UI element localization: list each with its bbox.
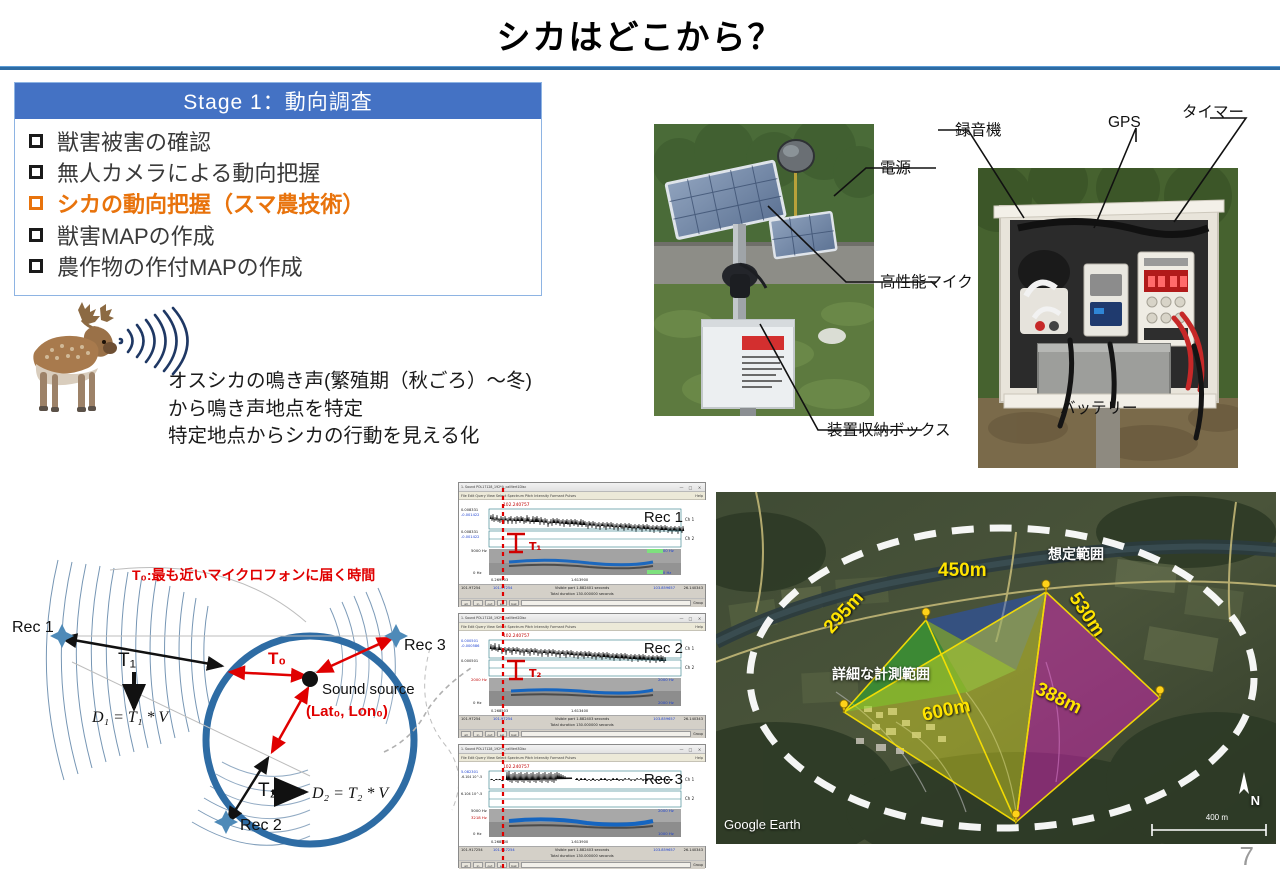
svg-text:1.613400: 1.613400 [571,709,589,713]
stage-box-header: Stage 1：動向調査 [15,83,541,119]
zoom-out-button[interactable]: out [485,731,495,737]
checklist-item[interactable]: 農作物の作付MAPの作成 [29,252,541,283]
deer-caption-line-3: 特定地点からシカの行動を見える化 [168,423,638,451]
praat-footer: 101.97254 101.97254 Visible part 1.88240… [459,715,705,729]
zoom-all-button[interactable]: all [461,862,471,868]
praat-window-rec3[interactable]: 1. Sound POL17128_192*A_callVert3Disc — … [458,744,706,868]
praat-button-row[interactable]: all in out sel bak Group [459,729,705,738]
group-checkbox-label[interactable]: Group [693,732,703,736]
deer-illustration [16,300,124,416]
diagram-title-note: T₀:最も近いマイクロフォンに届く時間 [132,567,375,583]
praat-canvas[interactable]: 102.240757 Ch 1 0.000501 -0.000586 Ch 2 … [459,631,705,715]
svg-text:-0.001422: -0.001422 [461,513,479,517]
praat-total-duration: Total duration 130.000000 seconds [459,592,705,596]
checklist-item-label: 無人カメラによる動向把握 [57,158,320,189]
stage-checklist: 獣害被害の確認 無人カメラによる動向把握 シカの動向把握（スマ農技術） 獣害MA… [15,119,541,283]
svg-text:Ch 2: Ch 2 [685,665,695,670]
checklist-item[interactable]: 獣害被害の確認 [29,127,541,158]
page-number: 7 [1240,841,1254,872]
diagram-t2-label: T₂ [258,780,277,801]
svg-text:0.269503: 0.269503 [491,578,508,582]
svg-text:2000 Hz: 2000 Hz [658,700,674,705]
minimize-icon[interactable]: — [678,485,685,490]
praat-total-right: 26.140343 [684,717,703,721]
group-checkbox-label[interactable]: Group [693,601,703,605]
praat-button-row[interactable]: all in out sel bak Group [459,598,705,607]
svg-text:5.082301: 5.082301 [461,770,478,774]
svg-text:102.240757: 102.240757 [503,633,530,639]
zoom-all-button[interactable]: all [461,600,471,606]
close-icon[interactable]: × [696,747,703,752]
callout-recorder: 録音機 [955,118,1002,140]
checklist-item-highlighted[interactable]: シカの動向把握（スマ農技術） [29,189,541,220]
praat-total-right: 26.140343 [684,586,703,590]
group-checkbox-label[interactable]: Group [693,863,703,867]
praat-window-stack: 1. Sound POL17128_192*A_callVert1Disc — … [458,482,706,868]
praat-window-title: 1. Sound POL17128_192*A_callVert2Disc [461,616,676,620]
deer-icon [16,300,124,416]
horizontal-scrollbar[interactable] [521,862,691,868]
sound-wave-icon [112,306,192,376]
t2-marker-label: T₂ [529,667,541,680]
minimize-icon[interactable]: — [678,616,685,621]
praat-menu-items[interactable]: File Edit Query View Select Spectrum Pit… [461,494,576,498]
svg-text:1.613900: 1.613900 [571,578,589,582]
zoom-sel-button[interactable]: sel [497,600,507,606]
svg-text:Ch 2: Ch 2 [685,796,695,801]
zoom-in-button[interactable]: in [473,600,483,606]
checkbox-icon[interactable] [29,134,43,148]
praat-window-title: 1. Sound POL17128_192*A_callVert1Disc [461,485,676,489]
callout-battery: バッテリー [1060,396,1138,418]
title-divider [0,66,1280,70]
diagram-t1-label: T₁ [118,650,136,671]
svg-text:Ch 1: Ch 1 [685,777,695,782]
praat-footer: 101.917254 101.917254 Visible part 1.882… [459,846,705,860]
deer-caption-line-1: オスシカの鳴き声(繁殖期（秋ごろ）〜冬) [168,368,638,396]
praat-titlebar[interactable]: 1. Sound POL17128_192*A_callVert3Disc — … [459,745,705,754]
checkbox-icon[interactable] [29,259,43,273]
satellite-imagery [716,492,1276,844]
diagram-equation-1: D₁ = T₁ * V [91,709,170,726]
svg-text:2000 Hz: 2000 Hz [658,808,674,813]
praat-help-menu[interactable]: Help [695,494,703,498]
deer-caption: オスシカの鳴き声(繁殖期（秋ごろ）〜冬) から鳴き声地点を特定 特定地点からシカ… [168,368,638,451]
distance-label-450m: 450m [938,560,987,582]
checklist-item-label: シカの動向把握（スマ農技術） [57,189,364,220]
svg-text:-0.001422: -0.001422 [461,535,479,539]
map-attribution: Google Earth [724,817,801,832]
diagram-rec1-label: Rec 1 [12,619,54,636]
assumed-range-label: 想定範囲 [1048,544,1104,564]
svg-text:Ch 1: Ch 1 [685,517,695,522]
checklist-item[interactable]: 獣害MAPの作成 [29,221,541,252]
svg-text:3218 Hz: 3218 Hz [471,815,487,820]
zoom-sel-button[interactable]: sel [497,731,507,737]
praat-right-time: 103.859657 [653,848,675,852]
checkbox-icon[interactable] [29,165,43,179]
checklist-item[interactable]: 無人カメラによる動向把握 [29,158,541,189]
rec-label-2: Rec 2 [644,640,683,657]
t1-marker-label: T₁ [529,540,541,553]
praat-help-menu[interactable]: Help [695,625,703,629]
rec-label-3: Rec 3 [644,771,683,788]
checklist-item-label: 農作物の作付MAPの作成 [57,252,303,283]
slide-root: シカはどこから？ Stage 1：動向調査 獣害被害の確認 無人カメラによる動向… [0,0,1280,886]
svg-text:1.613900: 1.613900 [571,840,589,844]
zoom-back-button[interactable]: bak [509,731,519,737]
diagram-t0-label: T₀ [268,649,286,668]
stage-box: Stage 1：動向調査 獣害被害の確認 無人カメラによる動向把握 シカの動向把… [14,82,542,296]
zoom-sel-button[interactable]: sel [497,862,507,868]
callout-timer: タイマー [1182,100,1244,122]
svg-text:2000 Hz: 2000 Hz [658,677,674,682]
praat-titlebar[interactable]: 1. Sound POL17128_192*A_callVert1Disc — … [459,483,705,492]
praat-canvas[interactable]: 102.240757 Ch 1 5.082301 -6.104 10^-5 Ch… [459,762,705,846]
zoom-back-button[interactable]: bak [509,862,519,868]
rec-label-1: Rec 1 [644,509,683,526]
google-earth-map[interactable]: Google Earth 400 m N 想定範囲 詳細な計測範囲 450m 2… [716,492,1276,844]
checklist-item-label: 獣害被害の確認 [57,127,211,158]
compass-north-label: N [1251,793,1260,808]
zoom-back-button[interactable]: bak [509,600,519,606]
svg-text:0.268503: 0.268503 [491,709,508,713]
zoom-out-button[interactable]: out [485,862,495,868]
page-title: シカはどこから？ [0,10,1280,59]
praat-menubar[interactable]: File Edit Query View Select Spectrum Pit… [459,754,705,762]
diagram-to-spectrogram-connector [380,640,480,770]
praat-right-time: 103.859657 [653,586,675,590]
praat-button-row[interactable]: all in out sel bak Group [459,860,705,869]
diagram-equation-2: D₂ = T₂ * V [311,785,390,802]
svg-text:Ch 2: Ch 2 [685,536,695,541]
svg-text:6.104 10^-5: 6.104 10^-5 [461,792,482,796]
horizontal-scrollbar[interactable] [521,731,691,737]
maximize-icon[interactable]: □ [687,485,694,490]
praat-right-time: 103.859657 [653,717,675,721]
svg-text:1000 Hz: 1000 Hz [658,831,674,836]
svg-text:0.008331: 0.008331 [461,530,478,534]
callout-enclosure: 装置収納ボックス [827,418,951,440]
svg-text:5000 Hz: 5000 Hz [471,808,487,813]
zoom-in-button[interactable]: in [473,862,483,868]
minimize-icon[interactable]: — [678,747,685,752]
detail-range-label: 詳細な計測範囲 [832,664,930,684]
callout-power: 電源 [880,156,911,178]
praat-menubar[interactable]: File Edit Query View Select Spectrum Pit… [459,492,705,500]
praat-total-duration: Total duration 130.000000 seconds [459,723,705,727]
praat-menubar[interactable]: File Edit Query View Select Spectrum Pit… [459,623,705,631]
diagram-source-coords: (Lat₀, Lon₀) [306,703,388,720]
deer-caption-line-2: から鳴き声地点を特定 [168,396,638,424]
callout-gps: GPS [1108,114,1141,132]
maximize-icon[interactable]: □ [687,616,694,621]
praat-footer: 101.97254 101.97254 Visible part 1.88240… [459,584,705,598]
close-icon[interactable]: × [696,616,703,621]
praat-titlebar[interactable]: 1. Sound POL17128_192*A_callVert2Disc — … [459,614,705,623]
svg-text:0.008331: 0.008331 [461,508,478,512]
svg-text:0 Hz: 0 Hz [473,570,481,575]
svg-text:0 Hz: 0 Hz [473,831,481,836]
close-icon[interactable]: × [696,485,703,490]
svg-text:-6.104 10^-5: -6.104 10^-5 [461,775,482,779]
praat-canvas[interactable]: 102.240757 Ch 1 0.008331 -0.001422 Ch 2 … [459,500,705,584]
praat-menu-items[interactable]: File Edit Query View Select Spectrum Pit… [461,625,576,629]
svg-text:0.268500: 0.268500 [491,840,509,844]
checkbox-icon[interactable] [29,228,43,242]
praat-window-rec2[interactable]: 1. Sound POL17128_192*A_callVert2Disc — … [458,613,706,738]
checklist-item-label: 獣害MAPの作成 [57,221,215,252]
callout-microphone: 高性能マイク [880,270,973,292]
maximize-icon[interactable]: □ [687,747,694,752]
praat-total-duration: Total duration 130.000000 seconds [459,854,705,858]
praat-window-title: 1. Sound POL17128_192*A_callVert3Disc [461,747,676,751]
svg-text:102.240757: 102.240757 [503,764,530,770]
praat-help-menu[interactable]: Help [695,756,703,760]
svg-text:5000 Hz: 5000 Hz [471,548,487,553]
map-scale-label: 400 m [1206,813,1228,822]
horizontal-scrollbar[interactable] [521,600,691,606]
praat-total-right: 26.140343 [684,848,703,852]
checkbox-icon[interactable] [29,196,43,210]
praat-window-rec1[interactable]: 1. Sound POL17128_192*A_callVert1Disc — … [458,482,706,607]
svg-text:Ch 1: Ch 1 [685,646,695,651]
diagram-rec2-label: Rec 2 [240,817,282,834]
zoom-out-button[interactable]: out [485,600,495,606]
svg-text:102.240757: 102.240757 [503,502,530,508]
